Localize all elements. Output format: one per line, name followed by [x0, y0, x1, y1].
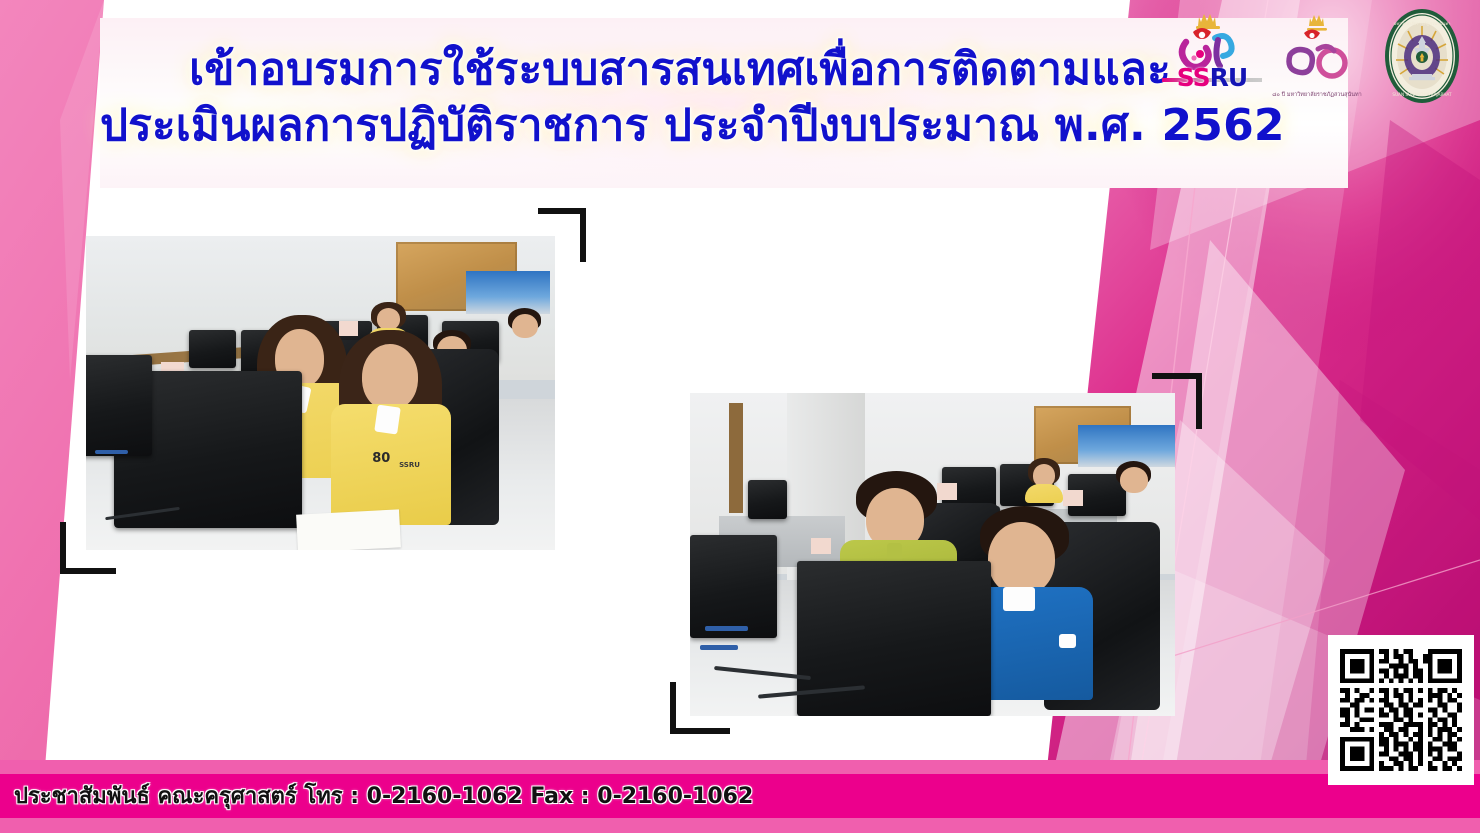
head	[362, 344, 418, 410]
qr-code[interactable]	[1328, 635, 1474, 785]
80th-logo-mark	[1274, 11, 1360, 101]
svg-text:SUAN SUNANDHA RAJABHAT: SUAN SUNANDHA RAJABHAT	[1392, 92, 1452, 97]
bracket-v	[60, 522, 66, 574]
desk-tag-2	[1063, 490, 1082, 506]
monitor-left	[690, 535, 777, 638]
80th-logo-caption: ๘๐ ปี มหาวิทยาลัยราชภัฏสวนสุนันทา	[1272, 91, 1361, 99]
shirt-badge-ssru: SSRU	[399, 461, 420, 469]
qr-code-image	[1340, 649, 1462, 771]
head	[377, 308, 401, 330]
person-background-1	[1025, 458, 1064, 503]
poster-canvas: เข้าอบรมการใช้ระบบสารสนเทศเพื่อการติดตาม…	[0, 0, 1480, 833]
photo-training-room-1: 80 SSRU	[86, 236, 555, 550]
head	[988, 522, 1054, 596]
torso	[1025, 484, 1064, 503]
collar	[375, 405, 401, 435]
head	[512, 314, 538, 338]
bracket-h	[1152, 373, 1202, 379]
photo2-scene	[690, 393, 1175, 716]
monitor-left	[86, 355, 152, 455]
collar	[1003, 587, 1035, 610]
university-seal-mark: มหาวิทยาลัยราชภัฏสวนสุนันทา SUAN SUNANDH…	[1370, 4, 1474, 108]
footer-bar: ประชาสัมพันธ์ คณะครุศาสตร์ โทร : 0-2160-…	[0, 760, 1480, 833]
bracket-v	[1196, 373, 1202, 429]
80th-anniversary-logo: ๘๐ ปี มหาวิทยาลัยราชภัฏสวนสุนันทา	[1274, 11, 1360, 101]
paper-sheet	[296, 510, 401, 550]
photo1-scene: 80 SSRU	[86, 236, 555, 550]
photo-training-room-2	[690, 393, 1175, 716]
title-line-1: เข้าอบรมการใช้ระบบสารสนเทศเพื่อการติดตาม…	[100, 42, 1260, 98]
bracket-h	[670, 728, 730, 734]
logo-group: SSRU ๘๐ ปี มหาวิทยาลัยราชภัฏสวนสุนันทา	[1160, 4, 1474, 108]
bracket-photo1-bottom-left	[60, 522, 116, 574]
monitor-back-1	[748, 480, 787, 519]
ssru-text-ru: RU	[1210, 63, 1248, 92]
bracket-photo1-top-right	[538, 208, 586, 262]
bracket-photo2-top-right	[1152, 373, 1202, 429]
footer-strip-top	[0, 760, 1480, 774]
desk-tag-3	[811, 538, 830, 554]
footer-strip-bottom	[0, 818, 1480, 833]
shirt-badge-80: 80	[372, 451, 390, 466]
ssru-logo-text: SSRU	[1177, 63, 1247, 92]
ssru-text-ss: SS	[1177, 63, 1210, 92]
door-frame	[729, 403, 744, 513]
person-woman-polo-80ssru: 80 SSRU	[339, 330, 442, 525]
footer-contact-text: ประชาสัมพันธ์ คณะครุศาสตร์ โทร : 0-2160-…	[14, 778, 753, 813]
university-seal: มหาวิทยาลัยราชภัฏสวนสุนันทา SUAN SUNANDH…	[1370, 4, 1474, 108]
monitor-back-4	[189, 330, 236, 368]
person-background-3	[503, 308, 545, 355]
head	[1120, 467, 1148, 493]
bracket-v	[670, 682, 676, 734]
bracket-photo2-bottom-left	[670, 682, 730, 734]
page-title: เข้าอบรมการใช้ระบบสารสนเทศเพื่อการติดตาม…	[100, 42, 1260, 155]
title-line-2: ประเมินผลการปฏิบัติราชการ ประจำปีงบประมา…	[100, 98, 1260, 154]
person-background-2	[1112, 461, 1156, 513]
ssru-logo: SSRU	[1160, 8, 1264, 104]
sleeve-trim	[1059, 634, 1076, 648]
bracket-h	[60, 568, 116, 574]
bracket-h	[538, 208, 586, 214]
cable-blue-1	[705, 626, 749, 631]
bracket-v	[580, 208, 586, 262]
cable-blue-2	[700, 645, 739, 650]
cable-blue-1	[95, 450, 128, 454]
